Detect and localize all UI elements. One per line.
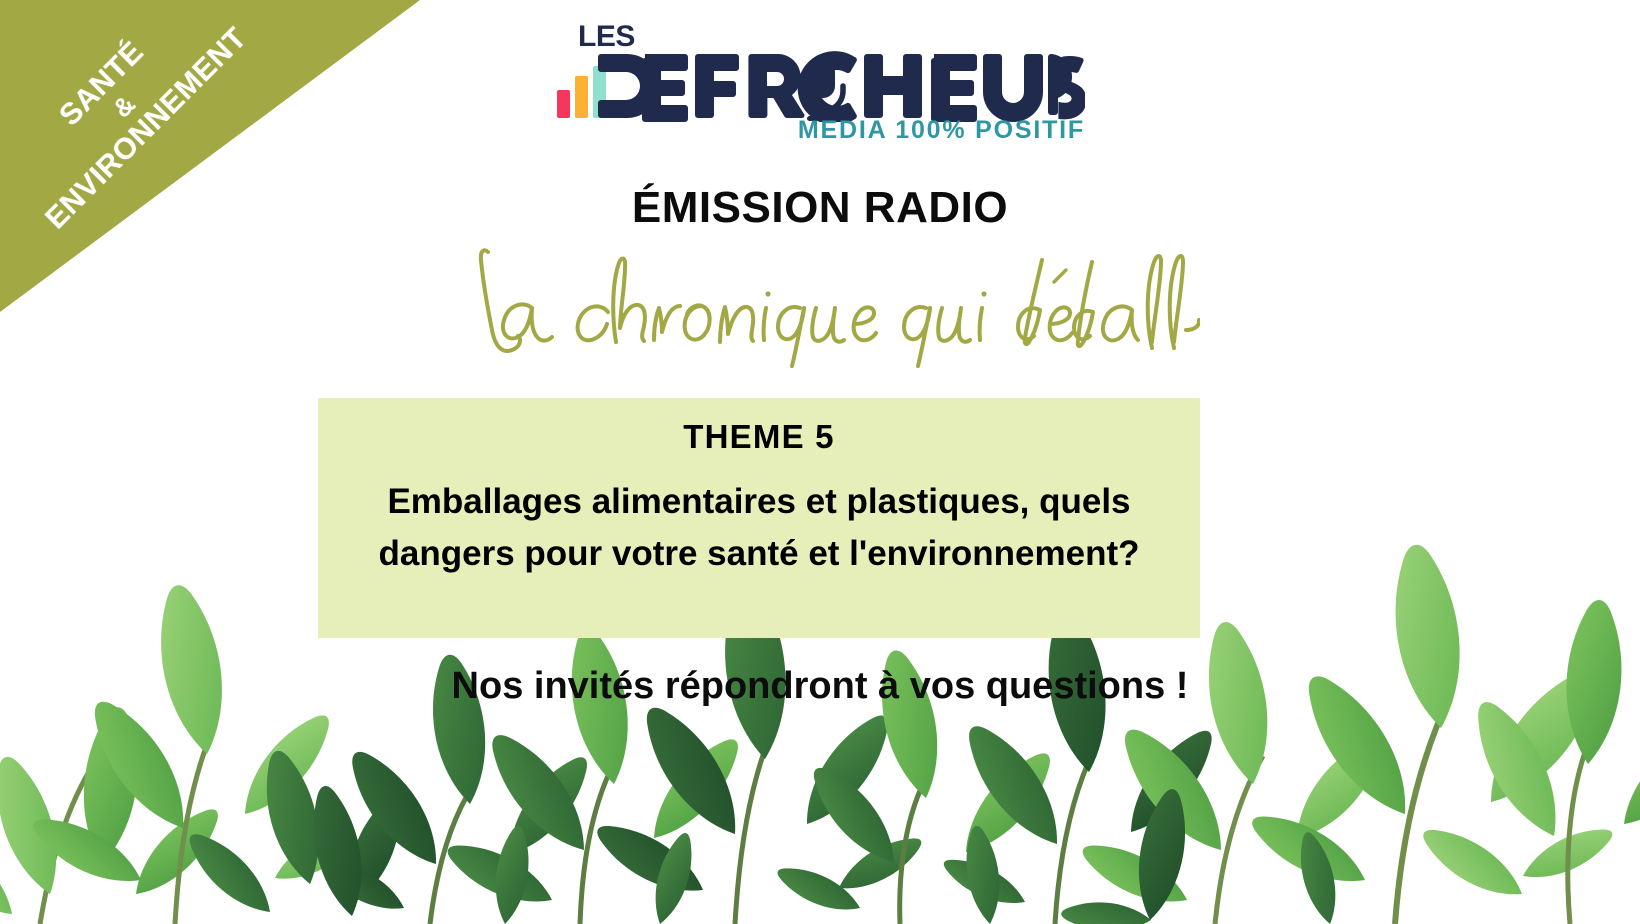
leaf-cluster-center-5	[938, 605, 1225, 924]
leaf-cluster-right-3	[1414, 598, 1640, 924]
theme-number: THEME 5	[348, 418, 1170, 456]
theme-panel: THEME 5 Emballages alimentaires et plast…	[318, 398, 1200, 638]
leaf-accents-foreground	[303, 782, 1344, 924]
leaf-cluster-left-3	[179, 746, 413, 924]
closing-line: Nos invités répondront à vos questions !	[0, 665, 1640, 708]
logo-inner: LES	[555, 22, 1085, 142]
leaf-cluster-left-2	[25, 580, 361, 924]
theme-question: Emballages alimentaires et plastiques, q…	[348, 476, 1170, 580]
category-ribbon: SANTÉ & ENVIRONNEMENT	[0, 0, 420, 312]
script-title-graphic	[440, 238, 1200, 368]
leaf-cluster-right-1	[1060, 617, 1394, 924]
theme-question-line-1: Emballages alimentaires et plastiques, q…	[348, 476, 1170, 528]
theme-question-line-2: dangers pour votre santé et l'environnem…	[348, 528, 1170, 580]
logo-tagline: MEDIA 100% POSITIF	[798, 118, 1085, 143]
leaf-cluster-left	[0, 705, 230, 924]
leaf-cluster-right-2	[1243, 541, 1619, 924]
poster-canvas: SANTÉ & ENVIRONNEMENT LES	[0, 0, 1640, 924]
logo-wordmark-graphic	[555, 46, 1085, 122]
